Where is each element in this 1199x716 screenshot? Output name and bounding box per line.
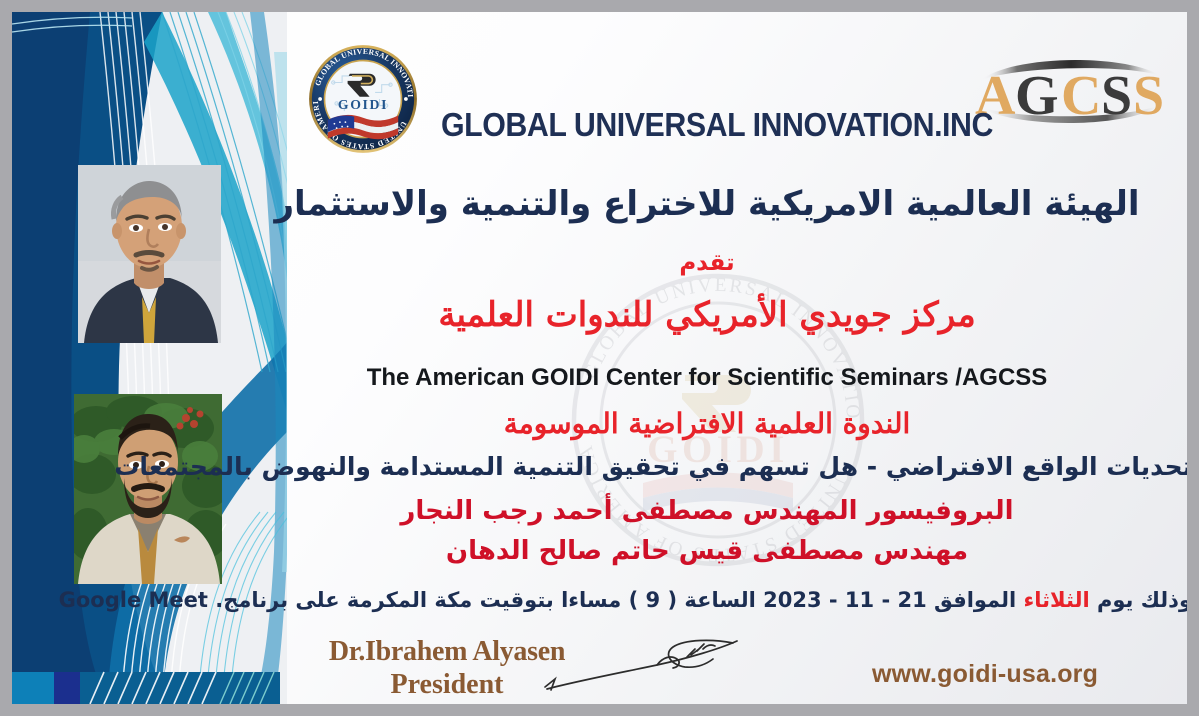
organization-name-en: GLOBAL UNIVERSAL INNOVATION.INC: [312, 106, 1122, 144]
schedule-time-label: الساعة: [684, 588, 755, 612]
schedule-line: وذلك يوم الثلاثاء الموافق 2023 - 11 - 21…: [212, 588, 1187, 612]
svg-text:GLOBAL UNIVERSAL INNOVATIONS I: GLOBAL UNIVERSAL INNOVATIONS I.N.C.: [568, 270, 863, 421]
speaker-photo-1: [78, 165, 221, 343]
schedule-time-suffix: مساءا بتوقيت مكة المكرمة على برنامج.: [215, 588, 621, 612]
schedule-platform: Google Meet: [59, 588, 208, 612]
seminar-poster: GLOBAL UNIVERSAL INNOVATIONS I.N.C. UNIT…: [0, 0, 1199, 716]
website-url[interactable]: www.goidi-usa.org: [872, 660, 1098, 689]
speaker-name-1: البروفيسور المهندس مصطفى أحمد رجب النجار: [242, 496, 1172, 526]
center-name-en: The American GOIDI Center for Scientific…: [242, 364, 1172, 392]
schedule-time: 9: [646, 588, 661, 612]
organization-name-ar: الهيئة العالمية الامريكية للاختراع والتن…: [242, 184, 1172, 224]
center-name-ar: مركز جويدي الأمريكي للندوات العلمية: [242, 295, 1172, 335]
schedule-time-paren-open: (: [667, 588, 677, 612]
seminar-subtitle-ar: تحديات الواقع الافتراضي - هل تسهم في تحق…: [192, 452, 1187, 481]
schedule-date-label: الموافق: [934, 588, 1016, 612]
svg-text:S: S: [1133, 65, 1164, 127]
schedule-date: 2023 - 11 - 21: [763, 588, 927, 612]
schedule-prefix: وذلك يوم: [1097, 588, 1187, 612]
speaker-name-2: مهندس مصطفى قيس حاتم صالح الدهان: [242, 536, 1172, 566]
signature-mark: [537, 637, 747, 702]
presents-label: تقدم: [242, 250, 1172, 276]
poster-card: GLOBAL UNIVERSAL INNOVATIONS I.N.C. UNIT…: [12, 12, 1187, 704]
speaker-photo-2: [74, 394, 222, 584]
schedule-time-paren-close: ): [629, 588, 639, 612]
seminar-heading-ar: الندوة العلمية الافتراضية الموسومة: [242, 407, 1172, 440]
schedule-day: الثلاثاء: [1024, 588, 1090, 612]
